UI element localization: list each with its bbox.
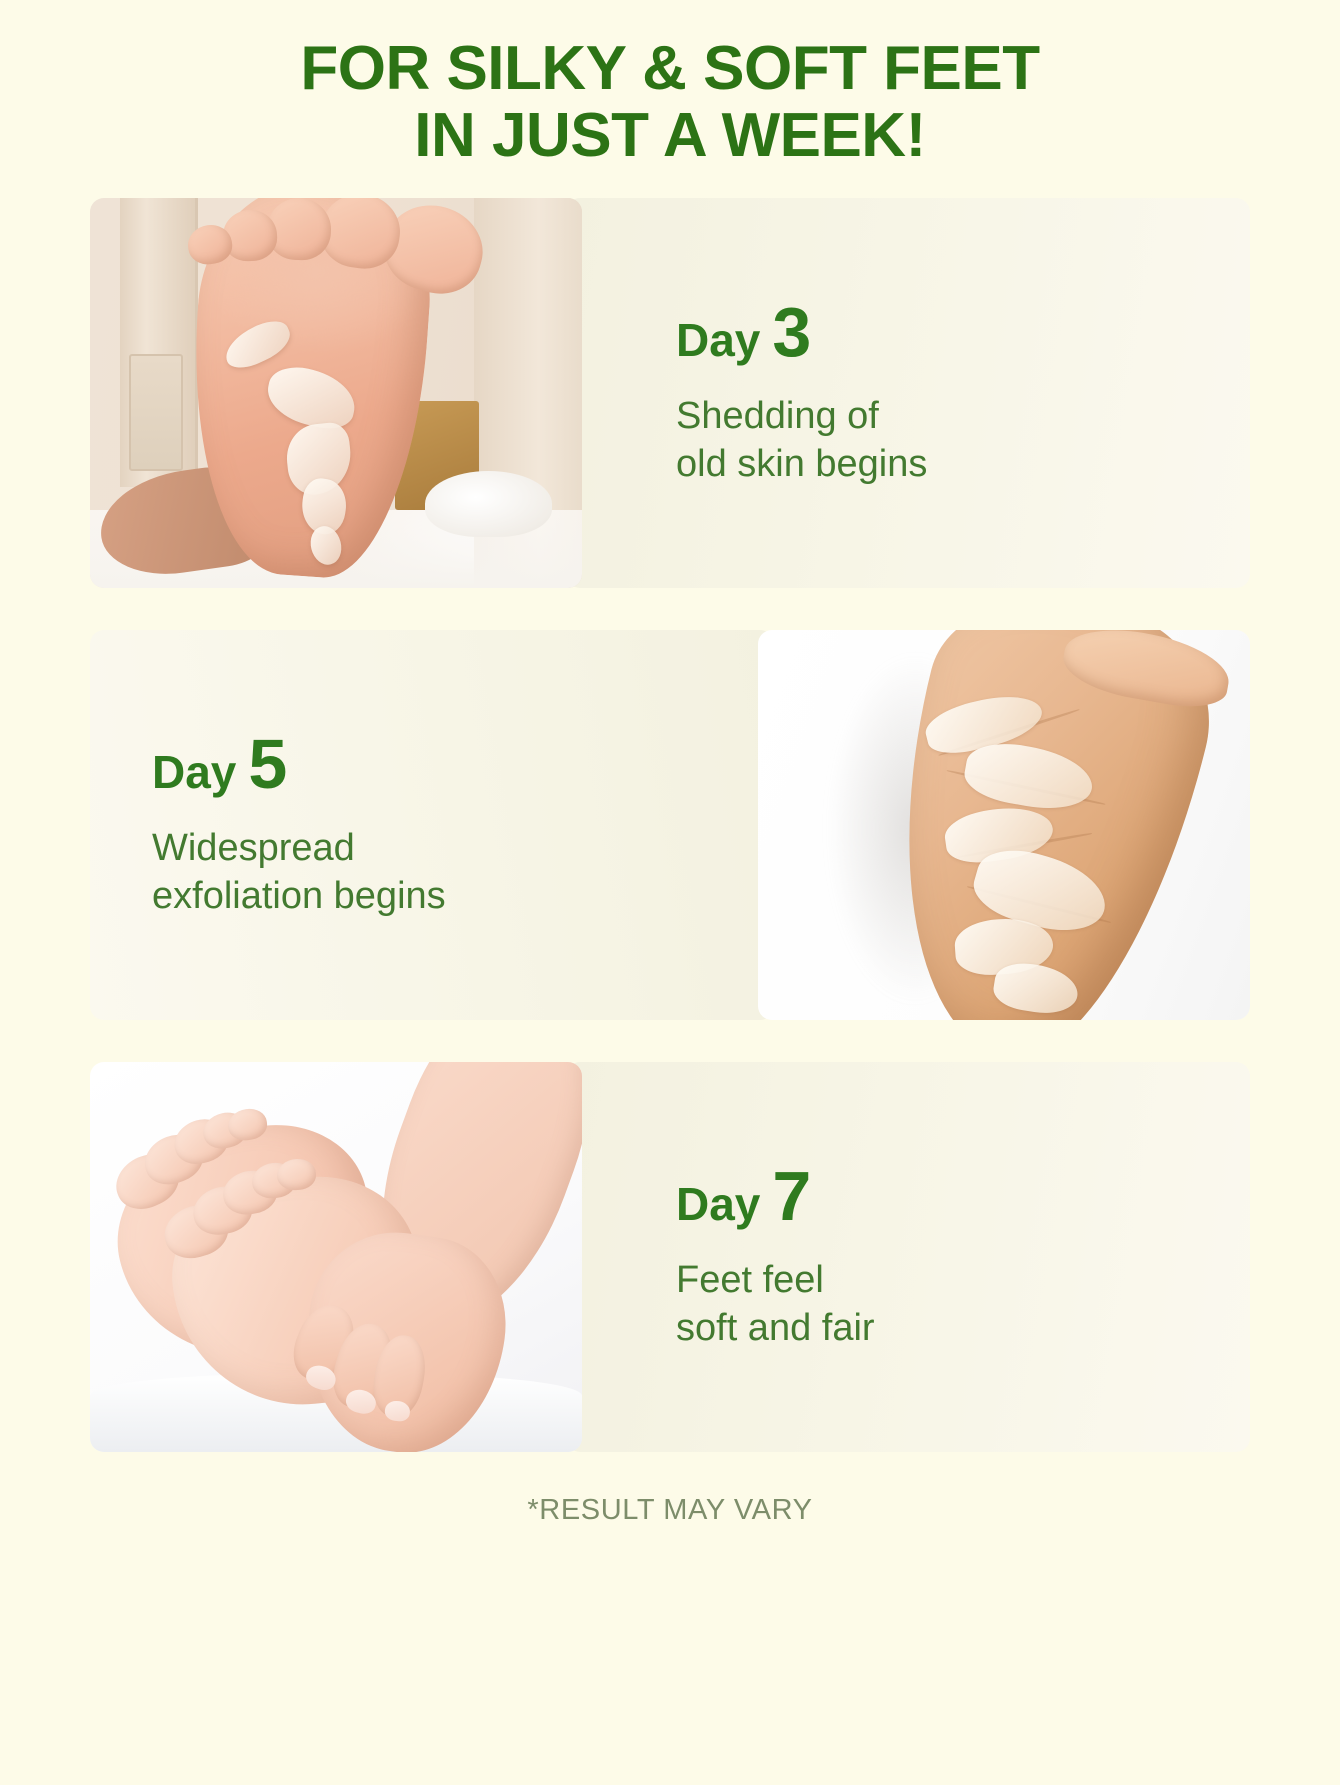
day-heading-day5: Day 5 xyxy=(152,729,774,799)
step-text-day7: Day 7 Feet feel soft and fair xyxy=(566,1062,1250,1452)
day-number: 7 xyxy=(772,1161,811,1231)
day-heading-day3: Day 3 xyxy=(676,297,1250,367)
description-line-1: Widespread xyxy=(152,827,355,869)
description-line-1: Feet feel xyxy=(676,1259,824,1301)
peeling-sole-closeup-image xyxy=(90,198,582,588)
day-description-day3: Shedding of old skin begins xyxy=(676,393,1250,489)
day-description-day7: Feet feel soft and fair xyxy=(676,1257,1250,1353)
description-line-2: soft and fair xyxy=(676,1307,875,1349)
headline-line-1: FOR SILKY & SOFT FEET xyxy=(0,36,1340,103)
day-label: Day xyxy=(676,1181,760,1227)
description-line-2: exfoliation begins xyxy=(152,875,446,917)
day-description-day5: Widespread exfoliation begins xyxy=(152,825,774,921)
day-label: Day xyxy=(676,317,760,363)
steps-list: Day 3 Shedding of old skin begins xyxy=(0,198,1340,1452)
smooth-feet-image xyxy=(90,1062,582,1452)
description-line-2: old skin begins xyxy=(676,443,927,485)
day-label: Day xyxy=(152,749,236,795)
step-row-day3: Day 3 Shedding of old skin begins xyxy=(90,198,1250,588)
page-title: FOR SILKY & SOFT FEET IN JUST A WEEK! xyxy=(0,0,1340,170)
pillow-decor xyxy=(425,471,553,537)
step-text-day3: Day 3 Shedding of old skin begins xyxy=(566,198,1250,588)
description-line-1: Shedding of xyxy=(676,395,879,437)
day-number: 3 xyxy=(772,297,811,367)
day-number: 5 xyxy=(248,729,287,799)
headline-line-2: IN JUST A WEEK! xyxy=(0,103,1340,170)
step-row-day7: Day 7 Feet feel soft and fair xyxy=(90,1062,1250,1452)
door-panel-decor xyxy=(129,354,183,471)
step-text-day5: Day 5 Widespread exfoliation begins xyxy=(90,630,774,1020)
disclaimer-text: *RESULT MAY VARY xyxy=(0,1494,1340,1527)
day-heading-day7: Day 7 xyxy=(676,1161,1250,1231)
infographic-page: FOR SILKY & SOFT FEET IN JUST A WEEK! xyxy=(0,0,1340,1785)
dry-flaking-foot-image xyxy=(758,630,1250,1020)
step-row-day5: Day 5 Widespread exfoliation begins xyxy=(90,630,1250,1020)
